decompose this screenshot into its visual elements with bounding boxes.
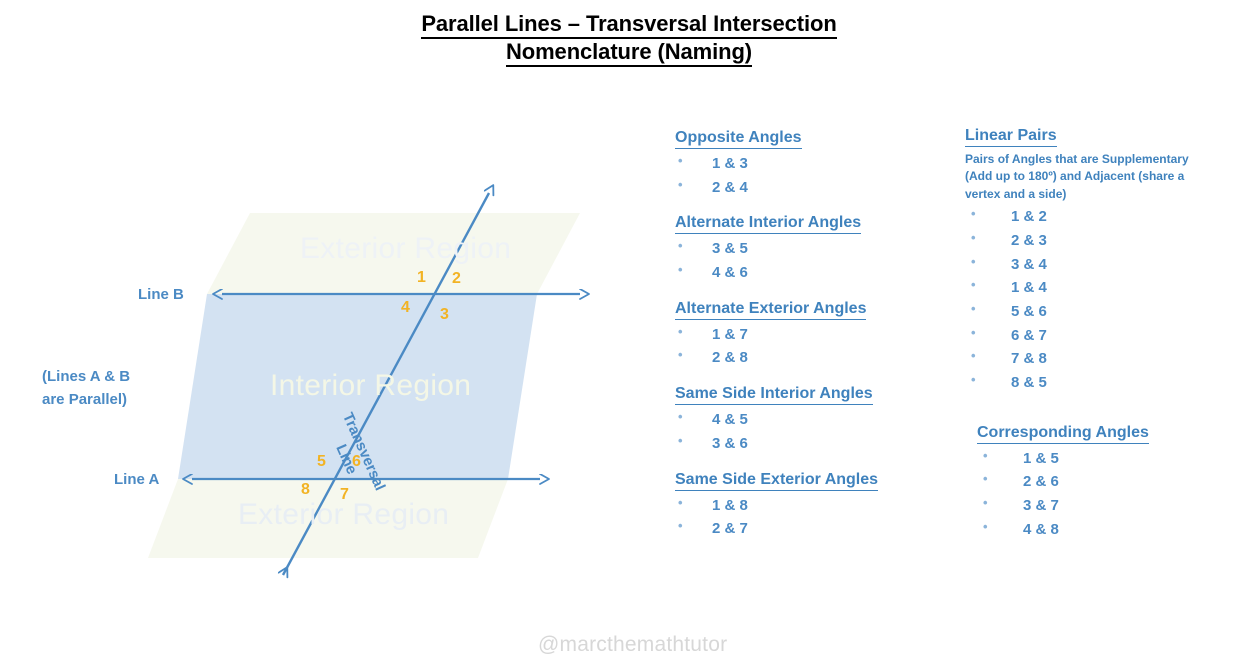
group-same-side-exterior-angles: Same Side Exterior Angles 1 & 8 2 & 7 [675,470,965,541]
angle-number-6: 6 [352,453,361,471]
column-spacer [965,409,1255,423]
group-heading-corresponding-angles: Corresponding Angles [977,423,1149,444]
list-item: 3 & 7 [977,494,1255,518]
pair-list-same-side-interior-angles: 4 & 5 3 & 6 [675,408,965,455]
list-item: 4 & 6 [675,261,965,285]
list-item: 2 & 6 [977,470,1255,494]
group-heading-alternate-interior-angles: Alternate Interior Angles [675,213,861,234]
line-a-label: Line A [114,471,159,488]
group-heading-linear-pairs: Linear Pairs [965,126,1057,147]
list-item: 2 & 8 [675,346,965,370]
list-item: 1 & 8 [675,494,965,518]
pair-list-opposite-angles: 1 & 3 2 & 4 [675,152,965,199]
group-alternate-interior-angles: Alternate Interior Angles 3 & 5 4 & 6 [675,213,965,284]
parallel-note-label: (Lines A & B are Parallel) [42,365,130,412]
list-item: 2 & 7 [675,517,965,541]
pair-list-alternate-exterior-angles: 1 & 7 2 & 8 [675,323,965,370]
list-item: 3 & 4 [965,253,1255,277]
pair-list-corresponding-angles: 1 & 5 2 & 6 3 & 7 4 & 8 [977,447,1255,542]
pair-list-alternate-interior-angles: 3 & 5 4 & 6 [675,237,965,284]
group-heading-same-side-interior-angles: Same Side Interior Angles [675,384,873,405]
group-opposite-angles: Opposite Angles 1 & 3 2 & 4 [675,128,965,199]
group-corresponding-angles: Corresponding Angles 1 & 5 2 & 6 3 & 7 4… [977,423,1255,542]
list-item: 6 & 7 [965,324,1255,348]
angle-relationships-column-left: Opposite Angles 1 & 3 2 & 4 Alternate In… [675,128,965,555]
list-item: 8 & 5 [965,371,1255,395]
angle-number-2: 2 [452,270,461,288]
interior-region-label: Interior Region [270,369,471,403]
pair-list-linear-pairs: 1 & 2 2 & 3 3 & 4 1 & 4 5 & 6 6 & 7 7 & … [965,205,1255,395]
list-item: 4 & 5 [675,408,965,432]
list-item: 3 & 6 [675,432,965,456]
list-item: 1 & 4 [965,276,1255,300]
pair-list-same-side-exterior-angles: 1 & 8 2 & 7 [675,494,965,541]
angle-relationships-column-right: Linear Pairs Pairs of Angles that are Su… [965,126,1255,555]
page-title: Parallel Lines – Transversal Intersectio… [0,10,1258,66]
title-line-1-text: Parallel Lines – Transversal Intersectio… [421,11,836,39]
group-heading-same-side-exterior-angles: Same Side Exterior Angles [675,470,878,491]
group-same-side-interior-angles: Same Side Interior Angles 4 & 5 3 & 6 [675,384,965,455]
angle-number-3: 3 [440,306,449,324]
line-b-label: Line B [138,286,184,303]
geometry-diagram: Exterior Region Interior Region Exterior… [0,80,640,600]
list-item: 1 & 2 [965,205,1255,229]
list-item: 1 & 7 [675,323,965,347]
list-item: 7 & 8 [965,347,1255,371]
title-line-2-text: Nomenclature (Naming) [506,39,752,67]
list-item: 2 & 4 [675,176,965,200]
exterior-region-top-label: Exterior Region [300,232,511,266]
linear-pairs-description: Pairs of Angles that are Supplementary (… [965,151,1197,203]
group-heading-opposite-angles: Opposite Angles [675,128,802,149]
group-heading-alternate-exterior-angles: Alternate Exterior Angles [675,299,866,320]
list-item: 4 & 8 [977,518,1255,542]
angle-number-1: 1 [417,269,426,287]
watermark: @marcthemathtutor [538,633,727,657]
list-item: 1 & 5 [977,447,1255,471]
group-alternate-exterior-angles: Alternate Exterior Angles 1 & 7 2 & 8 [675,299,965,370]
angle-number-8: 8 [301,481,310,499]
title-line-1: Parallel Lines – Transversal Intersectio… [0,10,1258,38]
list-item: 3 & 5 [675,237,965,261]
group-linear-pairs: Linear Pairs Pairs of Angles that are Su… [965,126,1255,395]
angle-number-5: 5 [317,453,326,471]
list-item: 2 & 3 [965,229,1255,253]
angle-number-4: 4 [401,299,410,317]
list-item: 1 & 3 [675,152,965,176]
title-line-2: Nomenclature (Naming) [0,38,1258,66]
angle-number-7: 7 [340,486,349,504]
list-item: 5 & 6 [965,300,1255,324]
